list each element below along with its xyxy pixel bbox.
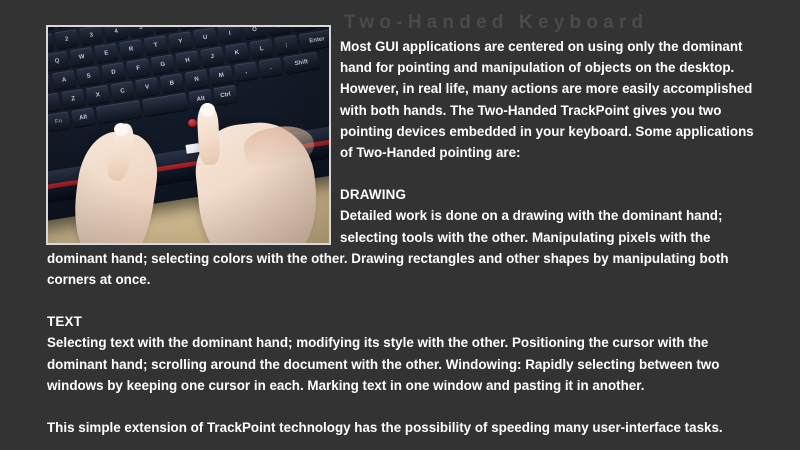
slide-root: Two-Handed Keyboard Esc F1 F2 F3 F4 F5 F… — [0, 0, 800, 450]
paragraph-gap — [47, 396, 761, 417]
page-title: Two-Handed Keyboard — [344, 12, 764, 34]
text-paragraph: Selecting text with the dominant hand; m… — [47, 332, 761, 396]
closing-paragraph: This simple extension of TrackPoint tech… — [47, 417, 761, 438]
text-heading: TEXT — [47, 311, 761, 332]
body-content: Most GUI applications are centered on us… — [47, 36, 761, 438]
photo-float-spacer — [47, 26, 330, 236]
paragraph-gap — [47, 290, 761, 311]
